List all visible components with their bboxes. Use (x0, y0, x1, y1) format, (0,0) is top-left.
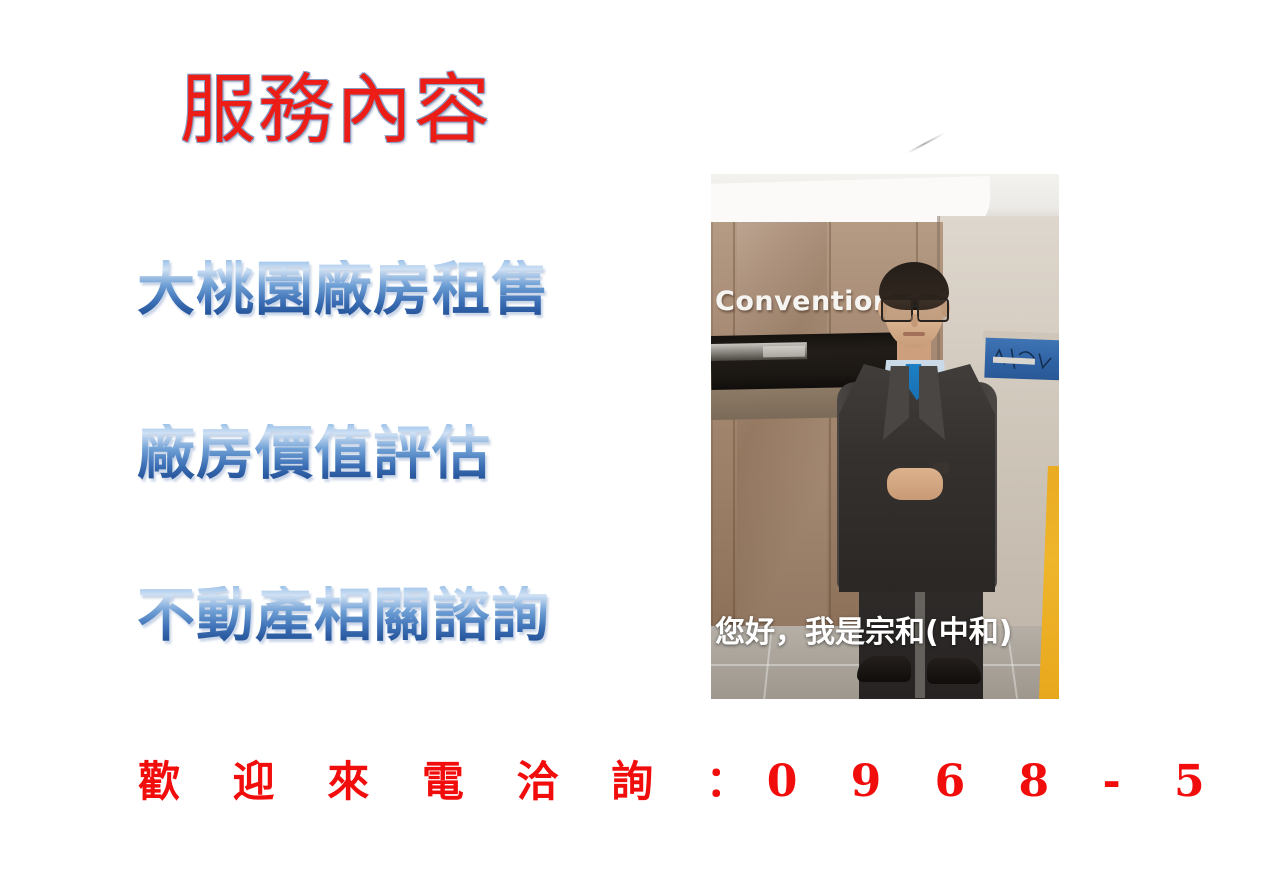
diagonal-line-artifact (907, 132, 945, 153)
person-nose (911, 314, 918, 327)
slide-canvas: 服務內容 大桃園廠房租售 大桃園廠房租售 廠房價值評估 廠房價值評估 不動產相關… (0, 0, 1263, 891)
page-title: 服務內容 (180, 72, 492, 148)
person-shoe-right (927, 658, 981, 684)
wood-grain (737, 222, 827, 627)
blue-artwork (984, 338, 1059, 381)
contact-line: 歡 迎 來 電 洽 詢 ：0 9 6 8 - 5 1 9 - 8 8 8 (138, 748, 1263, 809)
person-hands (887, 468, 943, 500)
person-mouth (903, 332, 925, 336)
eyeglass-lens-right (917, 298, 949, 322)
service-item-1: 大桃園廠房租售 (137, 260, 550, 318)
person-shoe-left (857, 656, 911, 682)
photo-caption: 您好，我是宗和(中和) (715, 616, 1059, 649)
counter-reflection-highlight (763, 346, 805, 358)
service-item-3: 不動產相關諮詢 (137, 586, 550, 644)
contact-label: 歡 迎 來 電 洽 詢 ： (138, 757, 767, 806)
agent-portrait-photo: Convention Ce (711, 174, 1059, 699)
eyeglass-lens-left (881, 298, 913, 322)
service-item-2: 廠房價值評估 (137, 424, 491, 482)
contact-phone-number[interactable]: 0 9 6 8 - 5 1 9 - 8 8 8 (767, 756, 1263, 807)
wood-seam (733, 222, 735, 627)
wood-seam (829, 222, 831, 627)
